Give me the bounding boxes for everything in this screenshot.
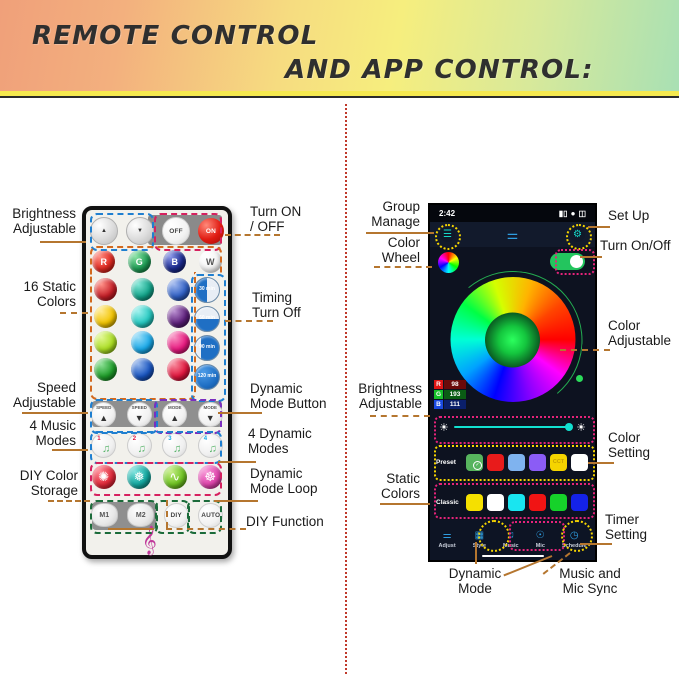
dynamic-mode-flash-button[interactable]: ✺ — [92, 465, 116, 489]
timing-button-column: 30 min 60 min 90 min 120 min — [194, 277, 221, 393]
nav-label-adjust: Adjust — [439, 543, 456, 549]
nav-label-mic: Mic — [536, 543, 545, 549]
leader-group-manage — [366, 232, 434, 234]
brightness-up-button[interactable]: ▲ — [90, 217, 118, 245]
music-note-icon: ♫ — [209, 444, 217, 455]
color-grid-row — [94, 278, 190, 301]
brightness-slider-track[interactable] — [454, 426, 571, 429]
music-mode-number: 1 — [97, 436, 100, 442]
timing-button-60min[interactable]: 60 min — [194, 306, 220, 332]
timing-button-30min[interactable]: 30 min — [194, 277, 220, 303]
phone-status-bar: 2:42 ▮▯ ● ◫ — [430, 205, 595, 222]
mode-up-button[interactable]: MODE ▲ — [162, 402, 187, 427]
nav-item-adjust[interactable]: ⚌ Adjust — [439, 531, 456, 549]
static-color-swatch[interactable] — [94, 358, 117, 381]
off-button[interactable]: OFF — [162, 217, 190, 245]
timing-button-120min[interactable]: 120 min — [194, 364, 220, 390]
leader-brightness-adjustable-app — [370, 415, 430, 417]
app-top-toolbar: ☰ ⚌ ⚙ — [430, 222, 595, 247]
classic-swatch-blue[interactable] — [571, 494, 588, 511]
classic-swatch-yellow[interactable] — [466, 494, 483, 511]
label-set-up: Set Up — [608, 208, 679, 223]
classic-label: Classic — [436, 499, 462, 506]
color-grid-row — [94, 358, 190, 381]
sun-small-icon: ☀ — [439, 421, 449, 434]
leader-diy-function — [166, 528, 246, 530]
leader-diy-function-left — [108, 528, 154, 530]
speed-up-button[interactable]: SPEED ▲ — [91, 402, 116, 427]
leader-turn-on-off — [225, 234, 280, 236]
leader-dynamic-mode-button — [218, 412, 262, 414]
leader-set-up — [588, 226, 610, 228]
label-turn-on-off: Turn ON / OFF — [250, 204, 345, 234]
classic-swatch-red[interactable] — [529, 494, 546, 511]
color-wheel[interactable] — [450, 277, 575, 402]
color-wheel-icon[interactable] — [438, 252, 459, 273]
on-button[interactable]: ON — [198, 218, 224, 244]
label-brightness-adjustable: Brightness Adjustable — [0, 206, 76, 236]
rgb-value-r: 98 — [444, 380, 466, 389]
color-button-r[interactable]: R — [92, 250, 115, 273]
leader-color-wheel — [374, 266, 432, 268]
header-title-line2: AND APP CONTROL: — [285, 55, 594, 85]
color-grid-row — [94, 331, 190, 354]
preset-label: Preset — [436, 459, 462, 466]
music-note-icon: ♫ — [138, 444, 146, 455]
music-mode-2-button[interactable]: 2 ♫ — [127, 433, 152, 458]
classic-swatch-green[interactable] — [550, 494, 567, 511]
label-dynamic-mode-button: Dynamic Mode Button — [250, 381, 348, 411]
signal-icon: ▮▯ — [559, 209, 568, 218]
label-4-dynamic-modes: 4 Dynamic Modes — [248, 426, 346, 456]
rgb-row-r: R 98 — [434, 380, 466, 389]
static-color-swatch[interactable] — [131, 278, 154, 301]
label-diy-function: DIY Function — [246, 514, 346, 529]
label-speed-adjustable: Speed Adjustable — [0, 380, 76, 410]
rgb-value-g: 193 — [444, 390, 466, 399]
label-color-adjustable: Color Adjustable — [608, 318, 679, 348]
brightness-slider-row[interactable]: ☀ ☀ — [430, 412, 595, 442]
classic-swatch-cyan[interactable] — [508, 494, 525, 511]
static-color-swatch[interactable] — [94, 278, 117, 301]
triangle-up-icon: ▲ — [170, 413, 179, 423]
label-color-setting: Color Setting — [608, 430, 679, 460]
preset-swatch-lightblue[interactable] — [508, 454, 525, 471]
phone-app-screenshot: 2:42 ▮▯ ● ◫ ☰ ⚌ ⚙ R 98 — [428, 203, 597, 562]
static-color-swatch[interactable] — [167, 278, 190, 301]
static-color-swatch[interactable] — [131, 358, 154, 381]
auto-button[interactable]: AUTO — [198, 503, 223, 528]
music-note-icon: ♫ — [507, 531, 515, 541]
nav-item-mic[interactable]: ☉ Mic — [536, 531, 545, 549]
rgb-key-g: G — [434, 390, 443, 399]
music-mode-1-button[interactable]: 1 ♫ — [91, 433, 116, 458]
status-time: 2:42 — [439, 209, 455, 218]
battery-icon: ◫ — [578, 209, 586, 218]
preset-color-row: Preset ✓ CCT — [430, 442, 595, 482]
label-diy-color-storage: DIY Color Storage — [0, 468, 78, 498]
dynamic-mode-smooth-button[interactable]: ☸ — [198, 465, 222, 489]
leader-4-dynamic-modes — [218, 461, 256, 463]
preset-swatch-purple[interactable] — [529, 454, 546, 471]
memory-m2-button[interactable]: M2 — [127, 503, 154, 527]
music-mode-number: 3 — [168, 436, 171, 442]
clock-icon: ◷ — [570, 531, 579, 541]
leader-color-adjustable — [560, 349, 610, 351]
treble-clef-icon: 𝄞 — [142, 528, 157, 553]
label-brightness-adjustable-app: Brightness Adjustable — [340, 381, 422, 411]
label-timer-setting: Timer Setting — [605, 512, 679, 542]
rgb-row-b: B 111 — [434, 400, 466, 409]
label-timing-turn-off: Timing Turn Off — [252, 290, 347, 320]
label-4-music-modes: 4 Music Modes — [0, 418, 76, 448]
grid-icon: ▦ — [475, 531, 484, 541]
mode-up-label: MODE — [168, 405, 182, 410]
static-color-swatch[interactable] — [94, 331, 117, 354]
leader-timing-turn-off — [225, 320, 273, 322]
static-color-grid — [94, 278, 190, 384]
cct-label: CCT — [550, 454, 567, 471]
leader-color-setting — [588, 462, 614, 464]
settings-gear-icon[interactable]: ⚙ — [570, 227, 585, 242]
adjust-sliders-icon[interactable]: ⚌ — [507, 227, 519, 243]
static-color-swatch[interactable] — [167, 305, 190, 328]
music-mode-number: 4 — [204, 436, 207, 442]
preset-swatch-green[interactable]: ✓ — [466, 454, 483, 471]
nav-item-schedule[interactable]: ◷ Schedule — [562, 531, 586, 549]
dynamic-mode-strobe-button[interactable]: ❅ — [127, 465, 151, 489]
preset-swatch-cct[interactable]: CCT — [550, 454, 567, 471]
static-color-swatch[interactable] — [131, 305, 154, 328]
timing-button-90min[interactable]: 90 min — [194, 335, 220, 361]
speed-down-button[interactable]: SPEED ▼ — [127, 402, 152, 427]
music-note-icon: ♫ — [102, 444, 110, 455]
triangle-down-icon: ▼ — [206, 413, 215, 423]
leader-diy-function-vertical — [166, 500, 168, 528]
rgb-value-b: 111 — [444, 400, 466, 409]
memory-m1-button[interactable]: M1 — [91, 503, 118, 527]
leader-brightness-adjustable — [40, 241, 86, 243]
rgb-row-g: G 193 — [434, 390, 466, 399]
music-note-icon: ♫ — [173, 444, 181, 455]
label-color-wheel: Color Wheel — [352, 235, 420, 265]
music-mode-4-button[interactable]: 4 ♫ — [198, 433, 223, 458]
wifi-icon: ● — [571, 209, 576, 218]
rgb-key-r: R — [434, 380, 443, 389]
label-dynamic-mode: Dynamic Mode — [430, 566, 520, 596]
home-indicator — [482, 555, 544, 558]
static-color-swatch[interactable] — [94, 305, 117, 328]
leader-turn-on-off-app — [580, 256, 602, 258]
mode-down-button[interactable]: MODE ▼ — [198, 402, 223, 427]
color-button-g[interactable]: G — [128, 250, 151, 273]
leader-dynamic-mode-loop — [214, 500, 258, 502]
classic-color-row: Classic — [430, 482, 595, 522]
classic-swatch-white[interactable] — [487, 494, 504, 511]
header-title-line1: REMOTE CONTROL — [32, 21, 318, 51]
nav-label-music: Music — [503, 543, 519, 549]
triangle-down-icon: ▼ — [135, 413, 144, 423]
dynamic-mode-fade-button[interactable]: ∿ — [163, 465, 187, 489]
arc-handle[interactable] — [576, 375, 583, 382]
leader-4-music-modes — [52, 449, 88, 451]
brightness-slider-thumb[interactable] — [565, 423, 573, 431]
label-16-static-colors: 16 Static Colors — [0, 279, 76, 309]
color-wheel-area: R 98 G 193 B 111 — [430, 247, 595, 412]
leader-static-colors — [380, 503, 430, 505]
mic-icon: ☉ — [536, 531, 545, 541]
remote-control-device: ▲ ▼ OFF ON R G B W — [82, 206, 232, 559]
label-turn-on-off-app: Turn On/Off — [600, 238, 679, 253]
leader-dynamic-mode — [475, 542, 477, 564]
label-static-colors: Static Colors — [352, 471, 420, 501]
leader-diy-color-storage — [48, 500, 90, 502]
leader-timer-setting — [580, 543, 612, 545]
leader-speed-adjustable — [22, 412, 88, 414]
check-icon: ✓ — [473, 461, 482, 470]
speed-up-label: SPEED — [96, 405, 111, 410]
color-grid-row — [94, 305, 190, 328]
preset-swatch-red[interactable] — [487, 454, 504, 471]
rgb-key-b: B — [434, 400, 443, 409]
brightness-down-button[interactable]: ▼ — [126, 217, 154, 245]
label-music-mic-sync: Music and Mic Sync — [540, 566, 640, 596]
music-mode-number: 2 — [133, 436, 136, 442]
color-button-b[interactable]: B — [163, 250, 186, 273]
static-color-swatch[interactable] — [167, 358, 190, 381]
triangle-up-icon: ▲ — [99, 413, 108, 423]
sliders-icon: ⚌ — [443, 531, 452, 541]
sun-large-icon: ☀ — [576, 421, 586, 434]
static-color-swatch[interactable] — [167, 331, 190, 354]
label-dynamic-mode-loop: Dynamic Mode Loop — [250, 466, 348, 496]
label-group-manage: Group Manage — [352, 199, 420, 229]
music-mode-3-button[interactable]: 3 ♫ — [162, 433, 187, 458]
static-color-swatch[interactable] — [131, 331, 154, 354]
rgb-readout: R 98 G 193 B 111 — [434, 380, 466, 410]
preset-swatch-white[interactable] — [571, 454, 588, 471]
mode-down-label: MODE — [204, 405, 218, 410]
nav-item-music[interactable]: ♫ Music — [503, 531, 519, 549]
header-banner: REMOTE CONTROL AND APP CONTROL: — [0, 0, 679, 98]
infographic-root: REMOTE CONTROL AND APP CONTROL: ▲ ▼ OFF … — [0, 0, 679, 679]
speed-down-label: SPEED — [132, 405, 147, 410]
color-button-w[interactable]: W — [199, 250, 222, 273]
leader-16-static-colors — [60, 312, 88, 314]
group-manage-icon[interactable]: ☰ — [440, 227, 455, 242]
